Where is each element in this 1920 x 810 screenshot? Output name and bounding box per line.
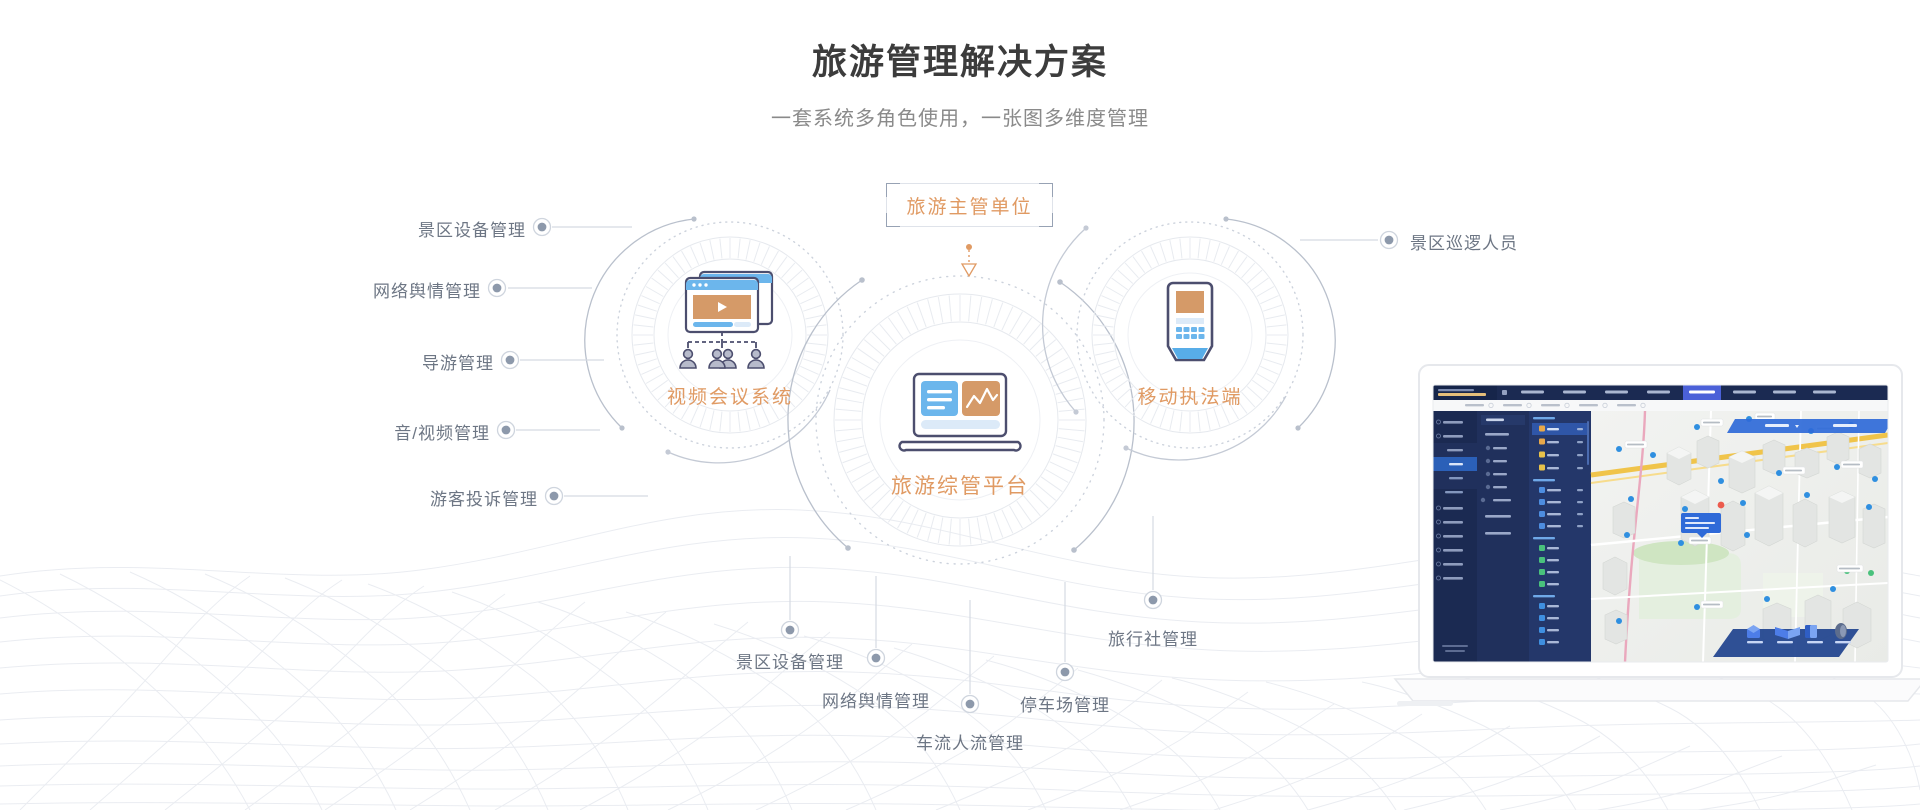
solution-overview-page: 旅游管理解决方案 一套系统多角色使用，一张图多维度管理 [0,0,1920,810]
gov-unit-connector [962,244,976,276]
page-header: 旅游管理解决方案 一套系统多角色使用，一张图多维度管理 [0,0,1920,131]
bottom-label-3[interactable]: 车流人流管理 [850,729,1090,754]
laptop-dashboard-icon [860,370,1060,460]
left-label-2[interactable]: 网络舆情管理 [241,277,481,302]
right-label-1[interactable]: 景区巡逻人员 [1410,229,1650,254]
page-subtitle: 一套系统多角色使用，一张图多维度管理 [0,102,1920,131]
node-mobile-enforcement[interactable]: 移动执法端 [1090,280,1290,409]
corner-bracket-bottom-right [1039,213,1053,227]
node-mobile-enforcement-label: 移动执法端 [1090,382,1290,409]
node-tourism-platform-label: 旅游综管平台 [860,470,1060,500]
left-connector-dots [489,219,563,505]
left-label-3[interactable]: 导游管理 [254,349,494,374]
left-label-5[interactable]: 游客投诉管理 [298,485,538,510]
corner-bracket-top-right [1039,183,1053,197]
governing-unit-box[interactable]: 旅游主管单位 [886,183,1053,227]
tourism-dashboard-laptop-mockup[interactable] [1381,357,1920,752]
box-edge-left [886,197,887,213]
handheld-device-icon [1090,280,1290,372]
box-edge-right [1052,197,1053,213]
governing-unit-label: 旅游主管单位 [906,192,1032,219]
page-title: 旅游管理解决方案 [0,42,1920,84]
bottom-label-4[interactable]: 停车场管理 [945,691,1185,716]
left-label-4[interactable]: 音/视频管理 [250,419,490,444]
left-label-1[interactable]: 景区设备管理 [286,216,526,241]
node-video-conference[interactable]: 视频会议系统 [630,264,830,409]
corner-bracket-bottom-left [886,213,900,227]
left-connectors [508,227,648,496]
node-video-conference-label: 视频会议系统 [630,382,830,409]
box-edge-bottom [900,226,1039,227]
node-tourism-platform[interactable]: 旅游综管平台 [860,370,1060,500]
box-edge-top [900,183,1039,184]
corner-bracket-top-left [886,183,900,197]
bottom-label-5[interactable]: 旅行社管理 [1033,625,1273,650]
right-connector-dots [1381,232,1398,249]
video-conference-icon [630,264,830,372]
bottom-label-1[interactable]: 景区设备管理 [670,648,910,673]
